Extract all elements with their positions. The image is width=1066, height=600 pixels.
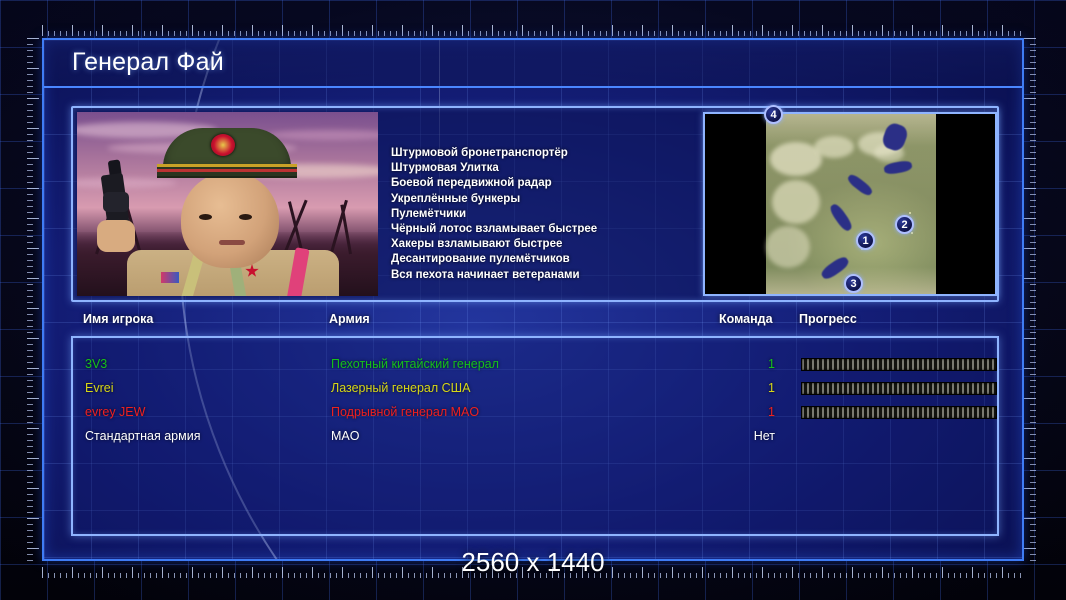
table-row[interactable]: evrey JEW Подрывной генерал MAO 1 — [73, 402, 997, 426]
player-name: 3V3 — [85, 357, 107, 371]
face — [181, 172, 279, 268]
player-army: Пехотный китайский генерал — [331, 357, 499, 371]
player-army: MAO — [331, 429, 359, 443]
medal — [161, 272, 179, 283]
resolution-label: 2560 x 1440 — [0, 547, 1066, 578]
player-progress-bar — [801, 358, 997, 371]
ability-item: Укреплённые бункеры — [391, 192, 691, 207]
column-header-player: Имя игрока — [83, 312, 153, 326]
player-progress-bar — [801, 406, 997, 419]
player-name: Evrei — [85, 381, 113, 395]
ruler-left — [27, 38, 39, 561]
player-army: Лазерный генерал США — [331, 381, 470, 395]
map-start-position-1[interactable]: 1 — [856, 231, 875, 250]
ability-item: Хакеры взламывают быстрее — [391, 237, 691, 252]
column-header-progress: Прогресс — [799, 312, 857, 326]
hand — [97, 220, 135, 252]
player-table: 3V3 Пехотный китайский генерал 1 Evrei Л… — [71, 336, 999, 536]
map-image: 1 2 3 — [705, 114, 995, 294]
player-team: 1 — [721, 357, 775, 371]
ability-item: Штурмовая Улитка — [391, 161, 691, 176]
player-team: 1 — [721, 405, 775, 419]
column-header-army: Армия — [329, 312, 370, 326]
map-start-position-4[interactable]: 4 — [764, 105, 783, 124]
player-name: Стандартная армия — [85, 429, 200, 443]
general-portrait — [77, 112, 378, 296]
map-start-position-3[interactable]: 3 — [844, 274, 863, 293]
player-name: evrey JEW — [85, 405, 145, 419]
ruler-top — [42, 24, 1024, 36]
page-title: Генерал Фай — [72, 48, 224, 77]
table-row[interactable]: Evrei Лазерный генерал США 1 — [73, 378, 997, 402]
map-preview[interactable]: 1 2 3 4 — [703, 112, 997, 296]
table-row[interactable]: 3V3 Пехотный китайский генерал 1 — [73, 354, 997, 378]
column-header-team: Команда — [719, 312, 773, 326]
map-start-position-2[interactable]: 2 — [895, 215, 914, 234]
player-team: 1 — [721, 381, 775, 395]
ability-item: Пулемётчики — [391, 207, 691, 222]
title-bar: Генерал Фай — [44, 40, 1022, 88]
ability-item: Вся пехота начинает ветеранами — [391, 268, 691, 283]
general-abilities-list: Штурмовой бронетранспортёр Штурмовая Ули… — [391, 112, 691, 296]
player-army: Подрывной генерал MAO — [331, 405, 479, 419]
table-row[interactable]: Стандартная армия MAO Нет — [73, 426, 997, 450]
ability-item: Чёрный лотос взламывает быстрее — [391, 222, 691, 237]
ability-item: Десантирование пулемётчиков — [391, 252, 691, 267]
app-background: Генерал Фай — [0, 0, 1066, 600]
general-info-panel: Генерал Фай — [42, 38, 1024, 561]
ability-item: Боевой передвижной радар — [391, 176, 691, 191]
general-summary-box: Штурмовой бронетранспортёр Штурмовая Ули… — [71, 106, 999, 302]
ruler-right — [1024, 38, 1036, 561]
player-table-header: Имя игрока Армия Команда Прогресс — [71, 312, 999, 334]
player-progress-bar — [801, 382, 997, 395]
player-team: Нет — [721, 429, 775, 443]
cap-emblem — [211, 134, 235, 156]
ability-item: Штурмовой бронетранспортёр — [391, 146, 691, 161]
